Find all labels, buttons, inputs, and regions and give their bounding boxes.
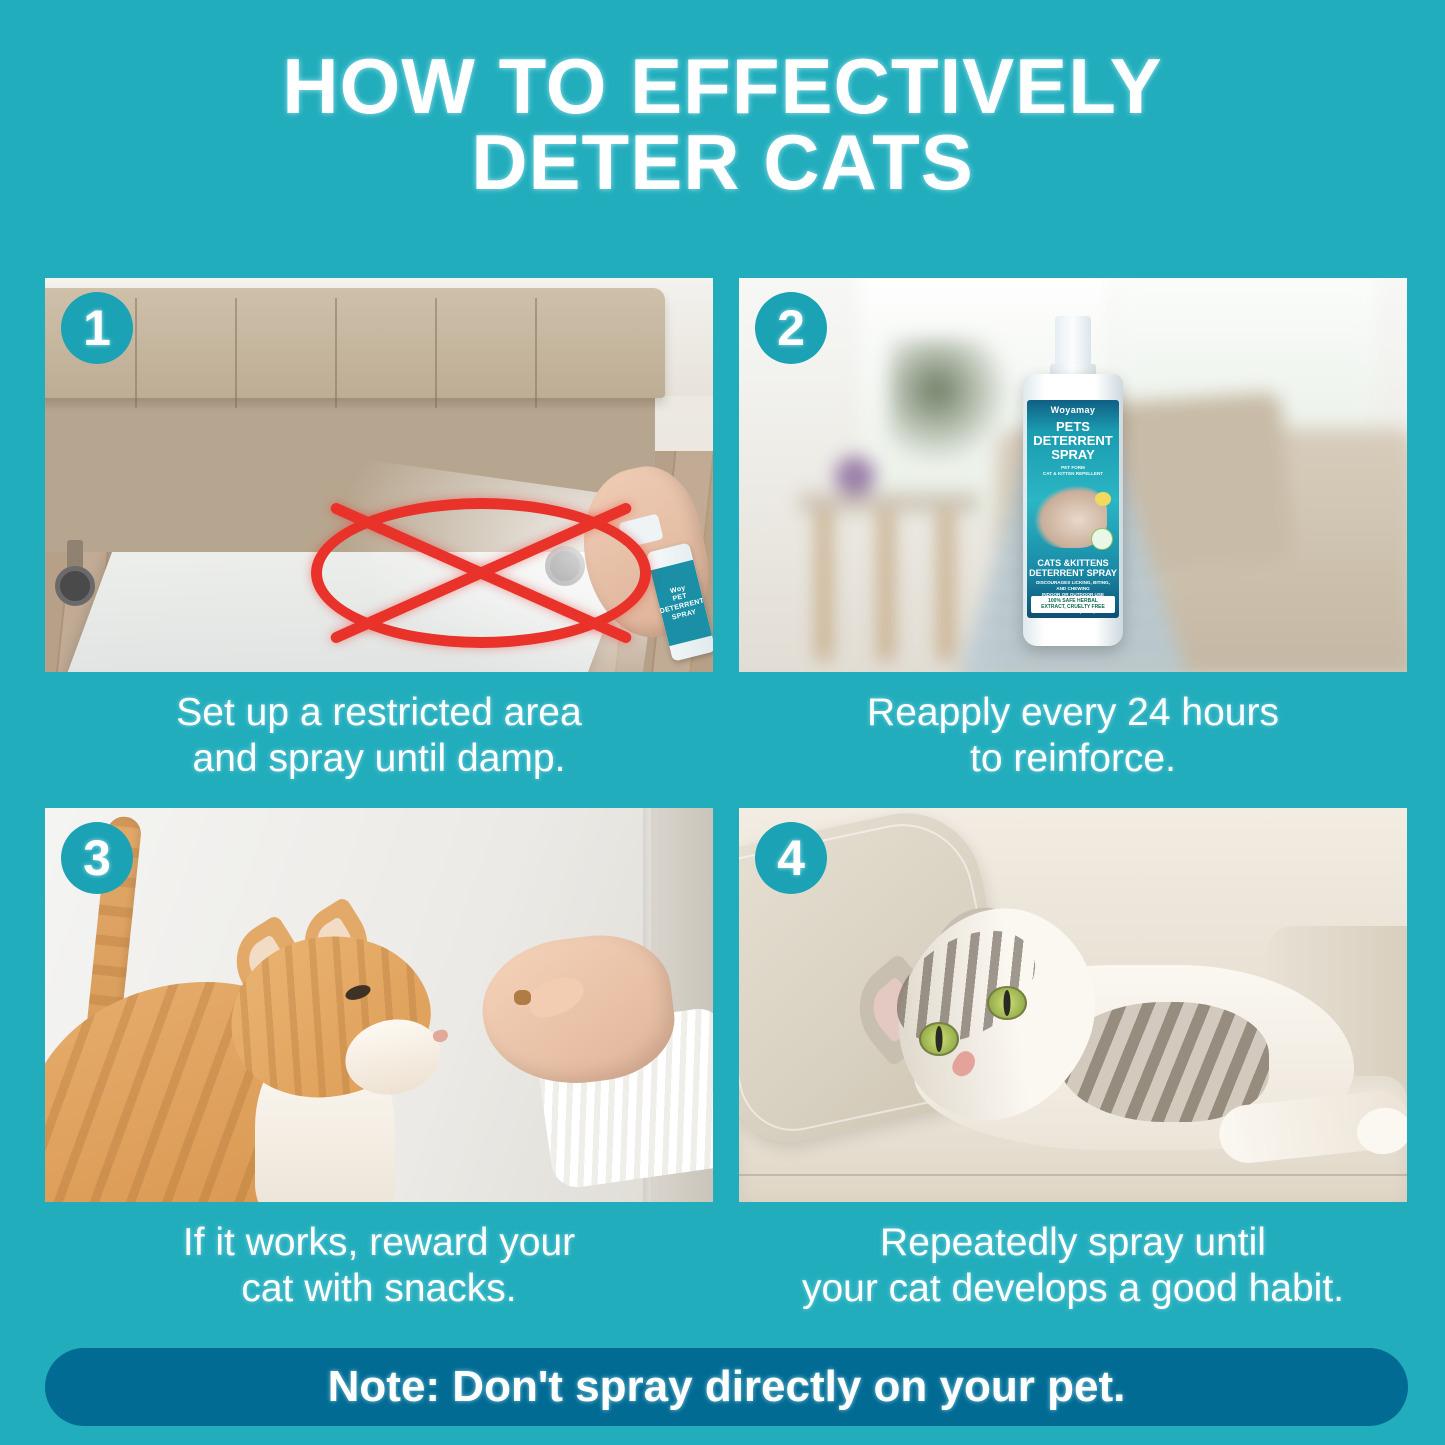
step-4-caption-line-1: Repeatedly spray until <box>880 1221 1266 1264</box>
bottle-cap <box>1055 316 1091 368</box>
step-card-1: Woy PET DETERRENT SPRAY 1 Set up a <box>45 278 713 782</box>
cat-treat <box>514 990 531 1005</box>
step-3-image: 3 <box>45 808 713 1202</box>
step-card-4: 4 Repeatedly spray until your cat develo… <box>739 808 1407 1312</box>
step-card-2: Woyamay PETS DETERRENT SPRAY PET FORM CA… <box>739 278 1407 782</box>
note-bar: Note: Don't spray directly on your pet. <box>45 1348 1408 1426</box>
product-name-line-2: DETERRENT <box>1033 433 1112 448</box>
step-card-3: 3 If it works, reward your cat with snac… <box>45 808 713 1312</box>
cat-eye <box>919 1022 959 1056</box>
step-badge-4: 4 <box>755 822 827 894</box>
step-2-caption-line-1: Reapply every 24 hours <box>867 691 1279 734</box>
step-badge-3: 3 <box>61 822 133 894</box>
steps-grid: Woy PET DETERRENT SPRAY 1 Set up a <box>45 278 1408 1312</box>
steps-row-top: Woy PET DETERRENT SPRAY 1 Set up a <box>45 278 1408 782</box>
step-1-caption-line-2: and spray until damp. <box>45 736 713 782</box>
step-1-caption: Set up a restricted area and spray until… <box>45 672 713 782</box>
step-2-caption-line-2: to reinforce. <box>739 736 1407 782</box>
product-claim-line-2: DETERRENT SPRAY <box>1029 568 1117 578</box>
product-name-line-3: SPRAY <box>1051 447 1095 462</box>
product-net-contents: NET 6.76FL OZ(200ML) <box>1027 609 1119 614</box>
step-1-caption-line-1: Set up a restricted area <box>176 691 581 734</box>
step-3-caption: If it works, reward your cat with snacks… <box>45 1202 713 1312</box>
step-4-caption-line-2: your cat develops a good habit. <box>739 1266 1407 1312</box>
product-details-line-2: AND CHEWING <box>1056 586 1089 591</box>
lemon-icon <box>1095 492 1111 506</box>
page-title: HOW TO EFFECTIVELY DETER CATS <box>0 48 1445 201</box>
product-claim-line-1: CATS &KITTENS <box>1037 558 1108 568</box>
product-details-line-1: DISCOURAGES LICKING, BITING, <box>1036 580 1110 585</box>
sofa-backrest <box>45 288 665 398</box>
bottle-label: Woyamay PETS DETERRENT SPRAY PET FORM CA… <box>1027 400 1119 618</box>
product-subtitle-line-1: PET FORM <box>1061 465 1085 470</box>
steps-row-bottom: 3 If it works, reward your cat with snac… <box>45 808 1408 1312</box>
step-2-caption: Reapply every 24 hours to reinforce. <box>739 672 1407 782</box>
infographic-page: HOW TO EFFECTIVELY DETER CATS <box>0 0 1445 1445</box>
cat-eye <box>987 986 1027 1020</box>
product-subtitle-line-2: CAT & KITTEN REPELLENT <box>1043 471 1103 476</box>
step-badge-2: 2 <box>755 292 827 364</box>
step-badge-1: 1 <box>61 292 133 364</box>
title-line-2: DETER CATS <box>0 124 1445 200</box>
note-text: Note: Don't spray directly on your pet. <box>328 1362 1126 1412</box>
prohibition-icon <box>311 498 651 648</box>
product-herbal-line-1: 100% SAFE HERBAL <box>1048 598 1098 604</box>
safety-seal-icon <box>1091 528 1113 550</box>
sofa-seam <box>739 1174 1407 1176</box>
step-2-image: Woyamay PETS DETERRENT SPRAY PET FORM CA… <box>739 278 1407 672</box>
title-line-1: HOW TO EFFECTIVELY <box>282 42 1162 130</box>
product-name-line-1: PETS <box>1056 419 1090 434</box>
product-bottle: Woyamay PETS DETERRENT SPRAY PET FORM CA… <box>1023 316 1123 646</box>
step-1-image: Woy PET DETERRENT SPRAY 1 <box>45 278 713 672</box>
step-4-image: 4 <box>739 808 1407 1202</box>
step-3-caption-line-1: If it works, reward your <box>183 1221 575 1264</box>
product-brand: Woyamay <box>1027 405 1119 415</box>
sofa-wheel <box>55 566 95 606</box>
step-3-caption-line-2: cat with snacks. <box>45 1266 713 1312</box>
step-4-caption: Repeatedly spray until your cat develops… <box>739 1202 1407 1312</box>
